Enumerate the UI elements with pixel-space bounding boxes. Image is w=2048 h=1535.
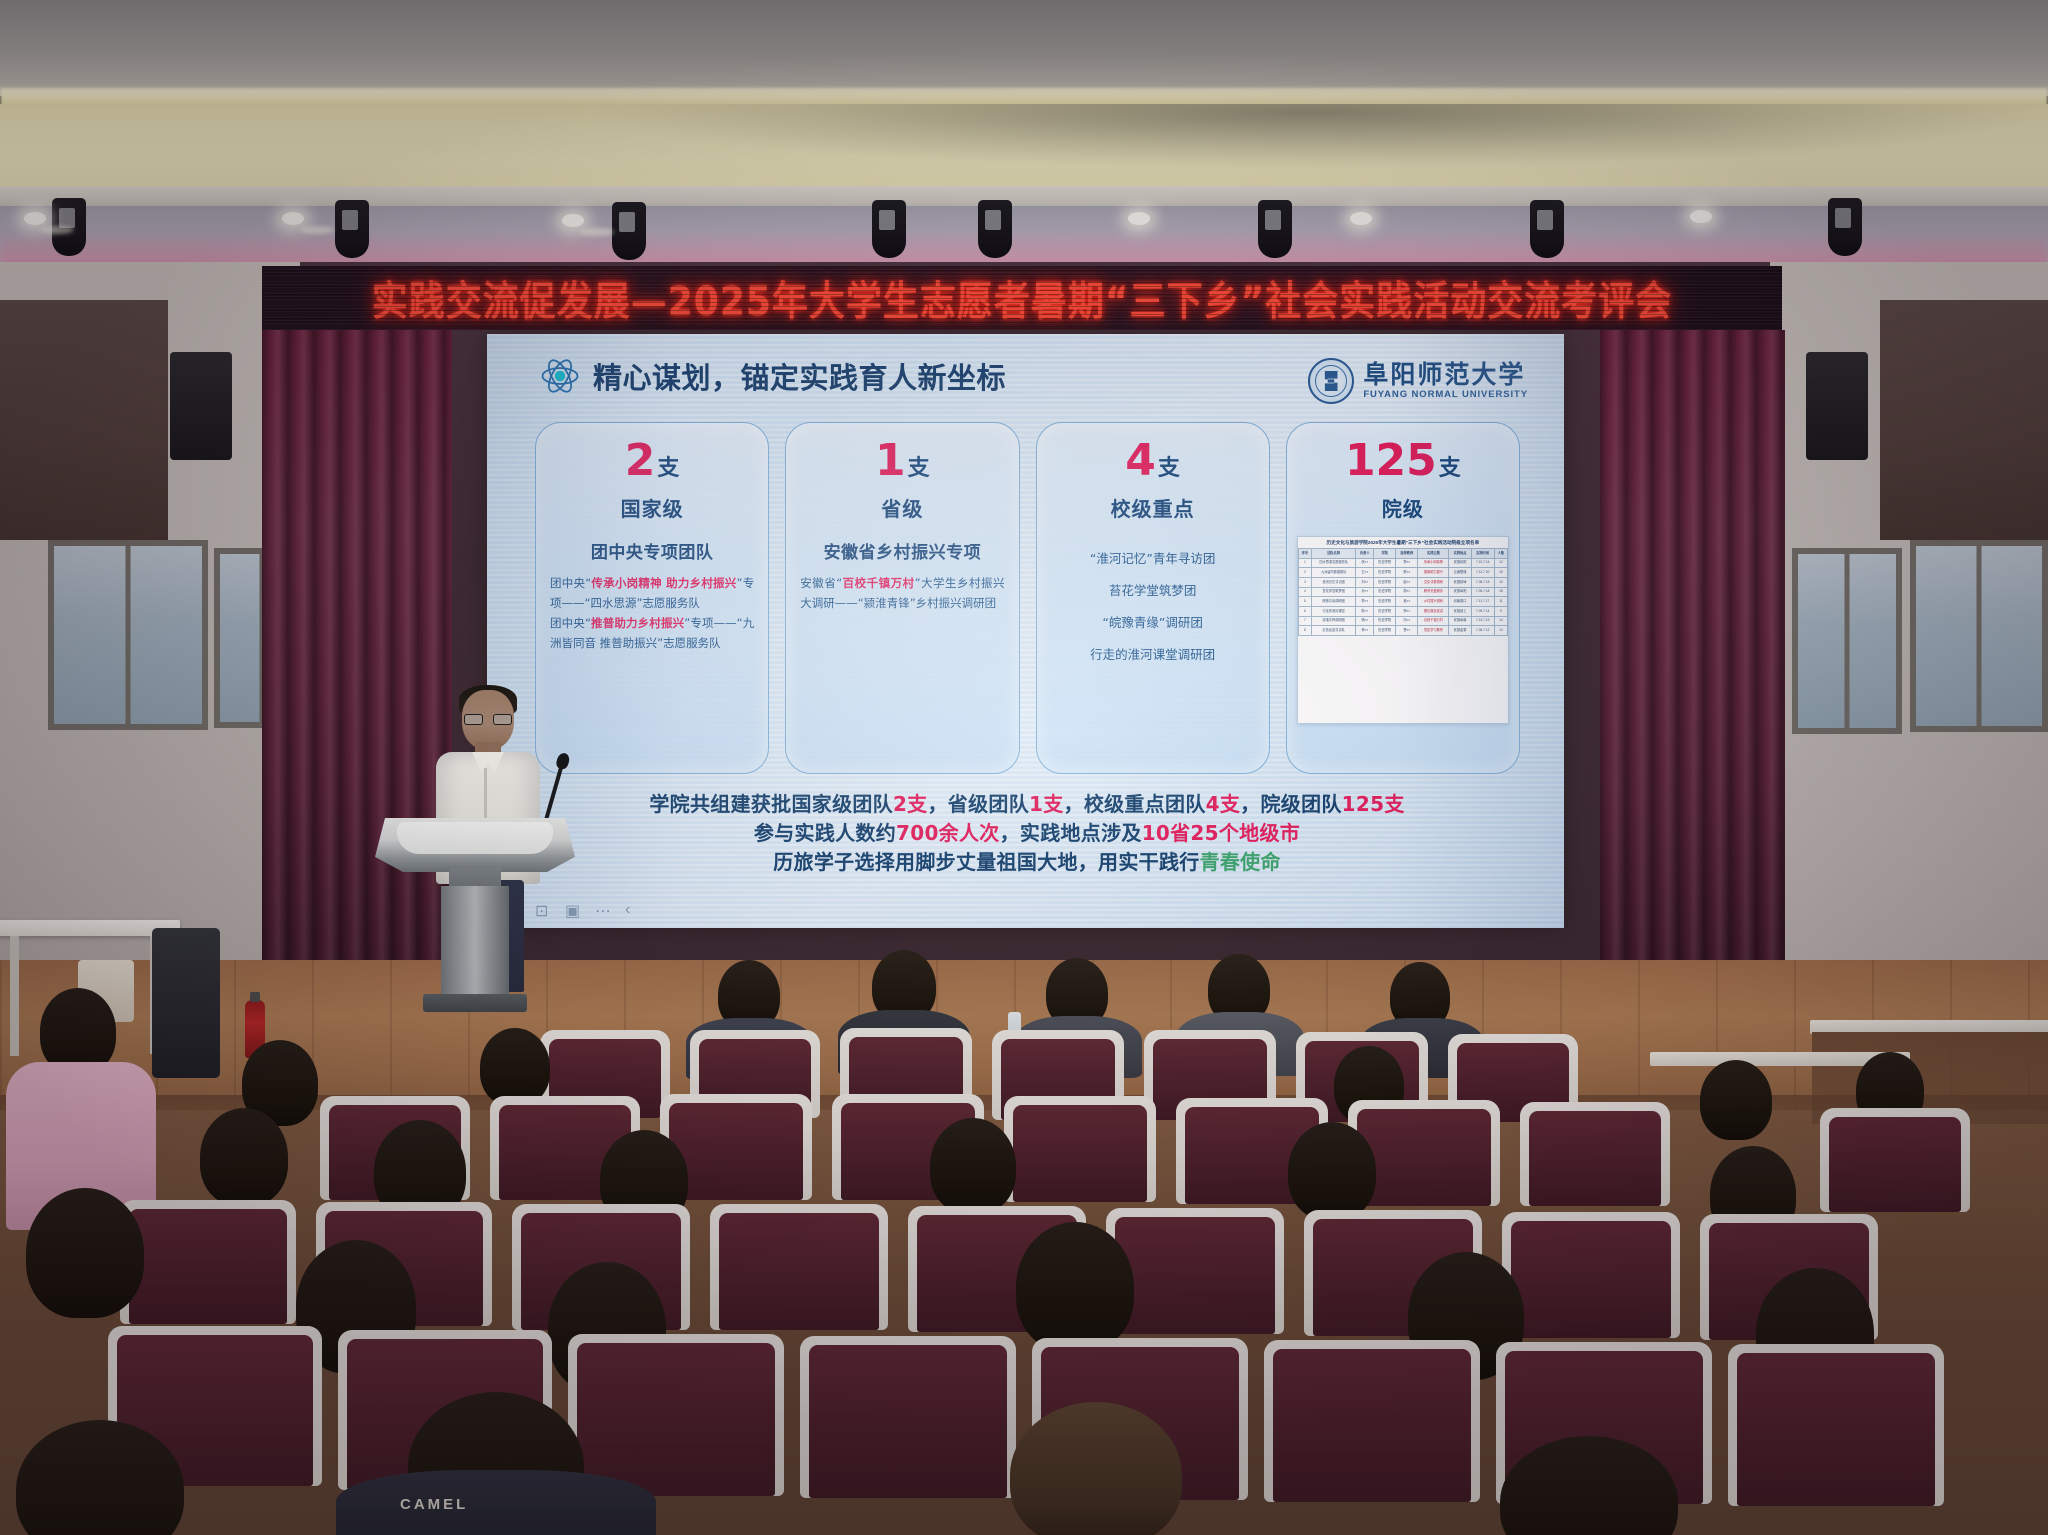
right-window [1792, 548, 1902, 734]
mini-table-cell: 18 [1494, 587, 1507, 597]
mini-table-cell: 吴×× [1396, 597, 1418, 607]
summary-run: 1支 [1029, 792, 1064, 816]
stat-heading: 安徽省乡村振兴专项 [824, 538, 982, 563]
university-name-cn: 阜阳师范大学 [1363, 362, 1528, 388]
card-body-run: 团中央“ [550, 576, 591, 590]
stat-body-text: 团中央“传承小岗精神 助力乡村振兴”专项——“四水思源”志愿服务队团中央“推普助… [546, 573, 758, 654]
university-seal-icon [1308, 358, 1354, 404]
mini-table-row: 1四水思源志愿服务队张××历史学院李××传承小岗精神安徽凤阳7.10-7.161… [1298, 558, 1507, 568]
mini-table-cell: 王×× [1356, 568, 1374, 578]
audience-shoulders [336, 1470, 656, 1535]
mini-table-cell: 皖豫青缘调研团 [1311, 597, 1356, 607]
mini-table-title: 历史文化与旅游学院2025年大学生暑期“三下乡”社会实践活动院级立项名单 [1298, 537, 1508, 548]
mini-table-cell: 7.08-7.15 [1471, 578, 1494, 588]
seat [120, 1200, 296, 1324]
mini-table-cell: 历史学院 [1374, 587, 1396, 597]
mini-table-cell: 历史学院 [1374, 568, 1396, 578]
mini-table-cell: 李×× [1356, 597, 1374, 607]
stat-number: 2 [625, 439, 656, 483]
mini-table-cell: 5 [1298, 597, 1311, 607]
team-list-item: 苔花学堂筑梦团 [1109, 580, 1197, 599]
mini-table-cell: 冯×× [1396, 616, 1418, 626]
seat [800, 1336, 1016, 1498]
summary-run: ，实践地点涉及 [1000, 821, 1142, 845]
seat-cushion [1829, 1117, 1961, 1212]
stat-unit: 支 [657, 458, 679, 480]
more-icon[interactable]: ⋯ [595, 901, 612, 918]
card-body-run: 推普助力乡村振兴 [591, 616, 684, 630]
ceiling-cove-shadow [0, 104, 2048, 190]
mini-table-cell: 7.13-7.19 [1471, 616, 1494, 626]
mini-table-cell: 郑×× [1396, 607, 1418, 617]
stat-card-provincial: 1 支 省级 安徽省乡村振兴专项 安徽省“百校千镇万村”大学生乡村振兴大调研——… [785, 422, 1019, 774]
mini-table-cell: 6 [1298, 607, 1311, 617]
mini-table-cell: 周×× [1396, 587, 1418, 597]
mini-table-cell: 7.06-7.12 [1471, 626, 1494, 636]
seat [1264, 1340, 1480, 1502]
mini-table-cell: 安徽蚌埠 [1449, 578, 1471, 588]
seat [1820, 1108, 1970, 1212]
stat-card-number-group: 2 支 [625, 439, 680, 483]
ceiling-downlight [1128, 212, 1150, 225]
stat-team-list: “淮河记忆”青年寻访团苔花学堂筑梦团“皖豫青缘”调研团行走的淮河课堂调研团 [1047, 548, 1259, 663]
mini-table-cell: 苔花学堂筑梦团 [1311, 587, 1356, 597]
stage-curtain-right [1600, 330, 1785, 970]
mini-table-cell: 2 [1298, 568, 1311, 578]
team-list-item: “淮河记忆”青年寻访团 [1090, 548, 1215, 567]
seat-cushion [1357, 1109, 1491, 1206]
stat-unit: 支 [1158, 458, 1180, 480]
summary-run: ，校级重点团队 [1064, 792, 1206, 816]
mini-table-cell: 行走的淮河课堂 [1311, 607, 1356, 617]
team-list-item: 行走的淮河课堂调研团 [1090, 644, 1215, 663]
summary-run: ，院级团队 [1240, 792, 1342, 816]
mini-table-cell: 7.11-7.17 [1471, 597, 1494, 607]
mini-table-cell: 红色足迹寻访队 [1311, 626, 1356, 636]
mini-table-header-cell: 人数 [1494, 549, 1507, 559]
ceiling-downlight [1350, 212, 1372, 225]
mini-table-cell: 黄×× [1356, 626, 1374, 636]
mini-table-cell: 九洲皆同音推普队 [1311, 568, 1356, 578]
stage-spotlight [1258, 200, 1292, 258]
card-body-run: 团中央“ [550, 616, 591, 630]
seat [1106, 1208, 1284, 1334]
stat-number: 125 [1345, 439, 1437, 483]
mini-table-cell: 历史学院 [1374, 558, 1396, 568]
mini-table-cell: 7 [1298, 616, 1311, 626]
mini-table-cell: 党史学习教育 [1418, 626, 1449, 636]
led-banner: 实践交流促发展—2025年大学生志愿者暑期“三下乡”社会实践活动交流考评会 [262, 266, 1782, 330]
mini-table-cell: 历史学院 [1374, 607, 1396, 617]
stat-number: 1 [875, 439, 906, 483]
mini-table-cell: 7.09-7.14 [1471, 607, 1494, 617]
mini-table-cell: 理论普及宣讲 [1418, 607, 1449, 617]
ceiling-downlight [562, 214, 584, 227]
stat-cards-row: 2 支 国家级 团中央专项团队 团中央“传承小岗精神 助力乡村振兴”专项——“四… [535, 422, 1520, 774]
stat-card-school-key: 4 支 校级重点 “淮河记忆”青年寻访团苔花学堂筑梦团“皖豫青缘”调研团行走的淮… [1036, 422, 1270, 774]
summary-run: 学院共组建获批 [649, 792, 791, 816]
mini-table-cell: 颍淮青锋调研团 [1311, 616, 1356, 626]
slide-header: 精心谋划，锚定实践育人新坐标 阜阳师范大学 FUYANG NORMAL UNIV… [487, 344, 1564, 408]
podium-column [441, 886, 509, 998]
stat-level-label: 校级重点 [1111, 493, 1195, 522]
mini-table-cell: 安徽金寨 [1449, 626, 1471, 636]
presenter-glasses [463, 714, 513, 725]
mini-table-cell: 李×× [1396, 558, 1418, 568]
mini-table-cell: 乡村振兴调研 [1418, 597, 1449, 607]
audience-head [26, 1188, 144, 1318]
mini-table-cell: 安徽凤阳 [1449, 558, 1471, 568]
mini-table-header-cell: 序号 [1298, 549, 1311, 559]
mini-table: 序号团队名称负责人学院指导教师实践主题实践地点实践时间人数1四水思源志愿服务队张… [1298, 548, 1508, 636]
summary-run: ，用 [1078, 850, 1119, 874]
ceiling-downlight-glow [300, 226, 334, 234]
summary-run: 历旅学子选择用 [773, 850, 915, 874]
seat [1520, 1102, 1670, 1206]
stage-spotlight [872, 200, 906, 258]
mini-table-cell: 曹×× [1396, 626, 1418, 636]
mini-table-cell: 安徽颍上 [1449, 607, 1471, 617]
mini-table-cell: 河南周口 [1449, 597, 1471, 607]
mini-table-cell: 刘×× [1356, 578, 1374, 588]
left-window [48, 540, 208, 730]
summary-run: 实干践行 [1118, 850, 1199, 874]
mini-table-cell: 四水思源志愿服务队 [1311, 558, 1356, 568]
mini-table-cell: 陈×× [1356, 607, 1374, 617]
audience-head [1016, 1222, 1134, 1352]
stat-level-label: 院级 [1382, 493, 1424, 522]
mini-table-row: 2九洲皆同音推普队王××历史学院陈××推普助力振兴云南楚雄7.12-7.2015 [1298, 568, 1507, 578]
audience-head [930, 1118, 1016, 1214]
mini-table-cell: 12 [1494, 558, 1507, 568]
side-desk-chair [152, 928, 220, 1078]
seat-cushion [577, 1343, 775, 1496]
summary-line: 历旅学子选择用脚步丈量祖国大地，用实干践行青春使命 [527, 848, 1527, 877]
mini-table-header-cell: 负责人 [1356, 549, 1374, 559]
summary-run: 700余人次 [896, 821, 1000, 845]
mini-table-cell: 云南楚雄 [1449, 568, 1471, 578]
stat-card-number-group: 4 支 [1125, 439, 1180, 483]
mini-table-header-row: 序号团队名称负责人学院指导教师实践主题实践地点实践时间人数 [1298, 549, 1507, 559]
stat-unit: 支 [1439, 458, 1461, 480]
back-chevron-icon[interactable]: ‹ [625, 901, 642, 918]
seat-cushion [719, 1213, 879, 1330]
mini-table-row: 5皖豫青缘调研团李××历史学院吴××乡村振兴调研河南周口7.11-7.1711 [1298, 597, 1507, 607]
mini-table-cell: 历史学院 [1374, 597, 1396, 607]
mini-table-row: 4苔花学堂筑梦团孙××历史学院周××教育关爱服务安徽阜阳7.05-7.1818 [1298, 587, 1507, 597]
podium-lectern-surface [397, 822, 553, 854]
mini-table-cell: 15 [1494, 568, 1507, 578]
mini-table-row: 8红色足迹寻访队黄××历史学院曹××党史学习教育安徽金寨7.06-7.1213 [1298, 626, 1507, 636]
summary-line: 学院共组建获批国家级团队2支，省级团队1支，校级重点团队4支，院级团队125支 [527, 790, 1527, 819]
mini-table-cell: 7.05-7.18 [1471, 587, 1494, 597]
mini-table-cell: 9 [1494, 607, 1507, 617]
stat-level-label: 省级 [881, 493, 923, 522]
seat-cushion [1737, 1353, 1935, 1506]
ceiling-downlight [24, 212, 46, 225]
stat-level-label: 国家级 [621, 493, 684, 522]
university-name-en: FUYANG NORMAL UNIVERSITY [1363, 390, 1528, 400]
audience-head [200, 1108, 288, 1206]
team-list-item: “皖豫青缘”调研团 [1102, 612, 1202, 631]
card-body-run: 安徽省“ [800, 576, 842, 590]
summary-run: 脚步丈量祖国大地 [915, 850, 1077, 874]
projection-screen: 精心谋划，锚定实践育人新坐标 阜阳师范大学 FUYANG NORMAL UNIV… [487, 334, 1564, 928]
project-list-table-thumbnail: 历史文化与旅游学院2025年大学生暑期“三下乡”社会实践活动院级立项名单 序号团… [1297, 536, 1509, 724]
slide-title-group: 精心谋划，锚定实践育人新坐标 [539, 355, 1006, 397]
stat-unit: 支 [908, 458, 930, 480]
right-wall-panel [1880, 300, 2048, 540]
university-logo: 阜阳师范大学 FUYANG NORMAL UNIVERSITY [1308, 358, 1528, 404]
mini-table-cell: 4 [1298, 587, 1311, 597]
seat [568, 1334, 784, 1496]
seat [710, 1204, 888, 1330]
mini-table-row: 7颍淮青锋调研团杨××历史学院冯××百校千镇万村安徽阜南7.13-7.1914 [1298, 616, 1507, 626]
mini-table-cell: 8 [1298, 626, 1311, 636]
podium [375, 818, 575, 1010]
mini-table-cell: 传承小岗精神 [1418, 558, 1449, 568]
mini-table-cell: 1 [1298, 558, 1311, 568]
summary-run: 4支 [1206, 792, 1241, 816]
mini-table-row: 3淮河记忆寻访团刘××历史学院赵××文化寻根调研安徽蚌埠7.08-7.1510 [1298, 578, 1507, 588]
mini-table-cell: 历史学院 [1374, 616, 1396, 626]
mini-table-cell: 安徽阜南 [1449, 616, 1471, 626]
mini-table-cell: 孙×× [1356, 587, 1374, 597]
mini-table-cell: 安徽阜阳 [1449, 587, 1471, 597]
seat-cushion [1529, 1111, 1661, 1206]
mini-table-cell: 杨×× [1356, 616, 1374, 626]
mini-table-header-cell: 学院 [1374, 549, 1396, 559]
mini-table-cell: 推普助力振兴 [1418, 568, 1449, 578]
summary-run: 参与实践人数约 [754, 821, 896, 845]
audience-head [480, 1028, 550, 1106]
mini-table-cell: 教育关爱服务 [1418, 587, 1449, 597]
mini-table-cell: 百校千镇万村 [1418, 616, 1449, 626]
seat-cushion [1013, 1105, 1147, 1202]
mini-table-cell: 赵×× [1396, 578, 1418, 588]
stat-number: 4 [1125, 439, 1156, 483]
mini-table-row: 6行走的淮河课堂陈××历史学院郑××理论普及宣讲安徽颍上7.09-7.149 [1298, 607, 1507, 617]
left-wall-panel [0, 300, 168, 540]
mini-table-cell: 张×× [1356, 558, 1374, 568]
mini-table-header-cell: 实践时间 [1471, 549, 1494, 559]
mini-table-header-cell: 团队名称 [1311, 549, 1356, 559]
stage-spotlight [335, 200, 369, 258]
stat-card-number-group: 1 支 [875, 439, 930, 483]
seat [1004, 1096, 1156, 1202]
seat [1728, 1344, 1944, 1506]
led-banner-text: 实践交流促发展—2025年大学生志愿者暑期“三下乡”社会实践活动交流考评会 [372, 269, 1673, 327]
seat [1502, 1212, 1680, 1338]
seat-cushion [1511, 1221, 1671, 1338]
auditorium-photo: 实践交流促发展—2025年大学生志愿者暑期“三下乡”社会实践活动交流考评会 精心… [0, 0, 2048, 1535]
podium-base [423, 994, 527, 1012]
mini-table-cell: 10 [1494, 578, 1507, 588]
ceiling-downlight-glow [40, 226, 74, 234]
mini-table-cell: 3 [1298, 578, 1311, 588]
stat-heading: 团中央专项团队 [591, 538, 714, 563]
mini-table-header-cell: 实践地点 [1449, 549, 1471, 559]
mini-table-cell: 7.10-7.16 [1471, 558, 1494, 568]
mini-table-cell: 淮河记忆寻访团 [1311, 578, 1356, 588]
ceiling-downlight [1690, 210, 1712, 223]
stage-spotlight [1828, 198, 1862, 256]
stat-body-text: 安徽省“百校千镇万村”大学生乡村振兴大调研——“颍淮青锋”乡村振兴调研团 [796, 573, 1008, 613]
seat-cushion [1115, 1217, 1275, 1334]
stat-card-college: 125 支 院级 历史文化与旅游学院2025年大学生暑期“三下乡”社会实践活动院… [1286, 422, 1520, 774]
university-wordmark: 阜阳师范大学 FUYANG NORMAL UNIVERSITY [1363, 362, 1528, 400]
card-body-run: 传承小岗精神 助力乡村振兴 [591, 576, 736, 590]
audience-head [1288, 1122, 1376, 1220]
stat-card-national: 2 支 国家级 团中央专项团队 团中央“传承小岗精神 助力乡村振兴”专项——“四… [535, 422, 769, 774]
audience-head [1700, 1060, 1772, 1140]
mini-table-header-cell: 实践主题 [1418, 549, 1449, 559]
mini-table-cell: 文化寻根调研 [1418, 578, 1449, 588]
summary-run: 青春使命 [1200, 850, 1281, 874]
seat-cushion [129, 1209, 287, 1324]
ceiling-upper-slab [0, 0, 2048, 96]
wall-speaker-right [1806, 352, 1868, 460]
summary-run: 10省25个地级市 [1142, 821, 1300, 845]
ceiling-downlight-glow [580, 228, 614, 236]
mini-table-cell: 历史学院 [1374, 578, 1396, 588]
stage-spotlight [978, 200, 1012, 258]
mini-table-cell: 7.12-7.20 [1471, 568, 1494, 578]
stat-card-number-group: 125 支 [1345, 439, 1461, 483]
ceiling-downlight [282, 212, 304, 225]
right-window [1910, 540, 2048, 732]
slide-title: 精心谋划，锚定实践育人新坐标 [593, 355, 1006, 397]
seat-cushion [809, 1345, 1007, 1498]
seat-cushion [1273, 1349, 1471, 1502]
stage-spotlight [1530, 200, 1564, 258]
mini-table-cell: 14 [1494, 616, 1507, 626]
mini-table-cell: 11 [1494, 597, 1507, 607]
jacket-logo-text: CAMEL [400, 1496, 490, 1514]
mini-table-cell: 13 [1494, 626, 1507, 636]
mini-table-header-cell: 指导教师 [1396, 549, 1418, 559]
wall-speaker-left [170, 352, 232, 460]
atom-icon [539, 355, 581, 397]
audience-head [1010, 1402, 1182, 1535]
stage-spotlight [612, 202, 646, 260]
summary-line: 参与实践人数约700余人次，实践地点涉及10省25个地级市 [527, 819, 1527, 848]
slide-summary: 学院共组建获批国家级团队2支，省级团队1支，校级重点团队4支，院级团队125支 … [527, 790, 1527, 877]
seat-cushion [669, 1103, 803, 1200]
side-desk-leg [10, 936, 19, 1056]
summary-run: 125支 [1342, 792, 1405, 816]
summary-run: ，省级团队 [928, 792, 1030, 816]
summary-run: 国家级团队 [791, 792, 893, 816]
summary-run: 2支 [893, 792, 928, 816]
card-body-run: 百校千镇万村 [842, 576, 914, 590]
mini-table-cell: 陈×× [1396, 568, 1418, 578]
mini-table-cell: 历史学院 [1374, 626, 1396, 636]
